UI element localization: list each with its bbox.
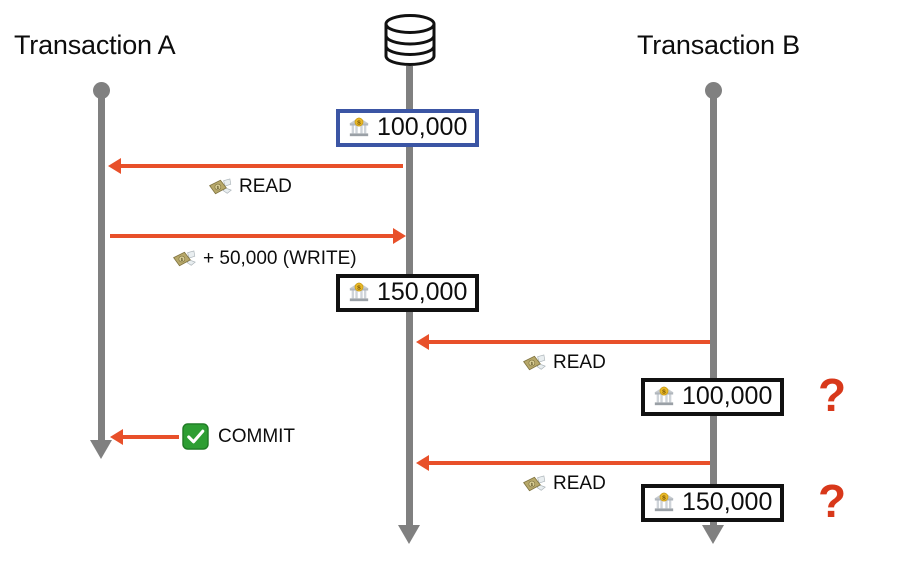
transaction-b-lifeline: [710, 90, 717, 531]
message-line-a-read: [120, 164, 403, 168]
message-line-b-read-2: [428, 461, 710, 465]
money-with-wings-icon: $: [172, 250, 196, 268]
message-arrowhead-b-read-1: [416, 334, 429, 350]
bank-money-icon: S: [348, 116, 370, 138]
db-value-amount: 100,000: [377, 115, 467, 140]
db-value-box-2: S 150,000: [336, 274, 479, 312]
message-label-text: + 50,000 (WRITE): [203, 248, 357, 270]
commit-marker: COMMIT: [182, 423, 295, 450]
db-value-amount: 150,000: [377, 280, 467, 305]
commit-label: COMMIT: [218, 426, 295, 448]
db-value-box-1: S 100,000: [336, 109, 479, 147]
message-label-a-write: $ + 50,000 (WRITE): [172, 248, 357, 270]
transaction-a-lifeline: [98, 90, 105, 445]
b-value-amount: 150,000: [682, 490, 772, 515]
message-arrowhead-a-write: [393, 228, 406, 244]
transaction-b-lifeline-end-arrow: [702, 525, 724, 544]
svg-text:S: S: [662, 389, 666, 395]
message-label-text: READ: [553, 473, 606, 495]
message-label-b-read-2: $ READ: [522, 473, 606, 495]
b-value-box-2: S 150,000: [641, 484, 784, 522]
money-with-wings-icon: $: [208, 178, 232, 196]
message-label-text: READ: [553, 352, 606, 374]
money-with-wings-icon: $: [522, 354, 546, 372]
bank-money-icon: S: [348, 281, 370, 303]
svg-text:S: S: [662, 495, 666, 501]
transaction-a-lifeline-end-arrow: [90, 440, 112, 459]
message-label-b-read-1: $ READ: [522, 352, 606, 374]
message-line-a-commit: [122, 435, 179, 439]
transaction-b-title: Transaction B: [637, 30, 800, 61]
message-arrowhead-a-commit: [110, 429, 123, 445]
message-line-a-write: [110, 234, 395, 238]
message-arrowhead-a-read: [108, 158, 121, 174]
sequence-diagram: Transaction A Transaction B: [0, 0, 908, 561]
question-mark-2: ?: [818, 478, 846, 524]
question-mark-1: ?: [818, 372, 846, 418]
b-value-box-1: S 100,000: [641, 378, 784, 416]
svg-text:S: S: [357, 120, 361, 126]
money-with-wings-icon: $: [522, 475, 546, 493]
message-label-text: READ: [239, 176, 292, 198]
green-check-icon: [182, 423, 209, 450]
bank-money-icon: S: [653, 385, 675, 407]
transaction-a-title: Transaction A: [14, 30, 175, 61]
message-label-a-read: $ READ: [208, 176, 292, 198]
database-lifeline-end-arrow: [398, 525, 420, 544]
b-value-amount: 100,000: [682, 384, 772, 409]
bank-money-icon: S: [653, 491, 675, 513]
database-cylinder-icon: [382, 14, 438, 71]
message-arrowhead-b-read-2: [416, 455, 429, 471]
svg-text:S: S: [357, 285, 361, 291]
message-line-b-read-1: [428, 340, 710, 344]
